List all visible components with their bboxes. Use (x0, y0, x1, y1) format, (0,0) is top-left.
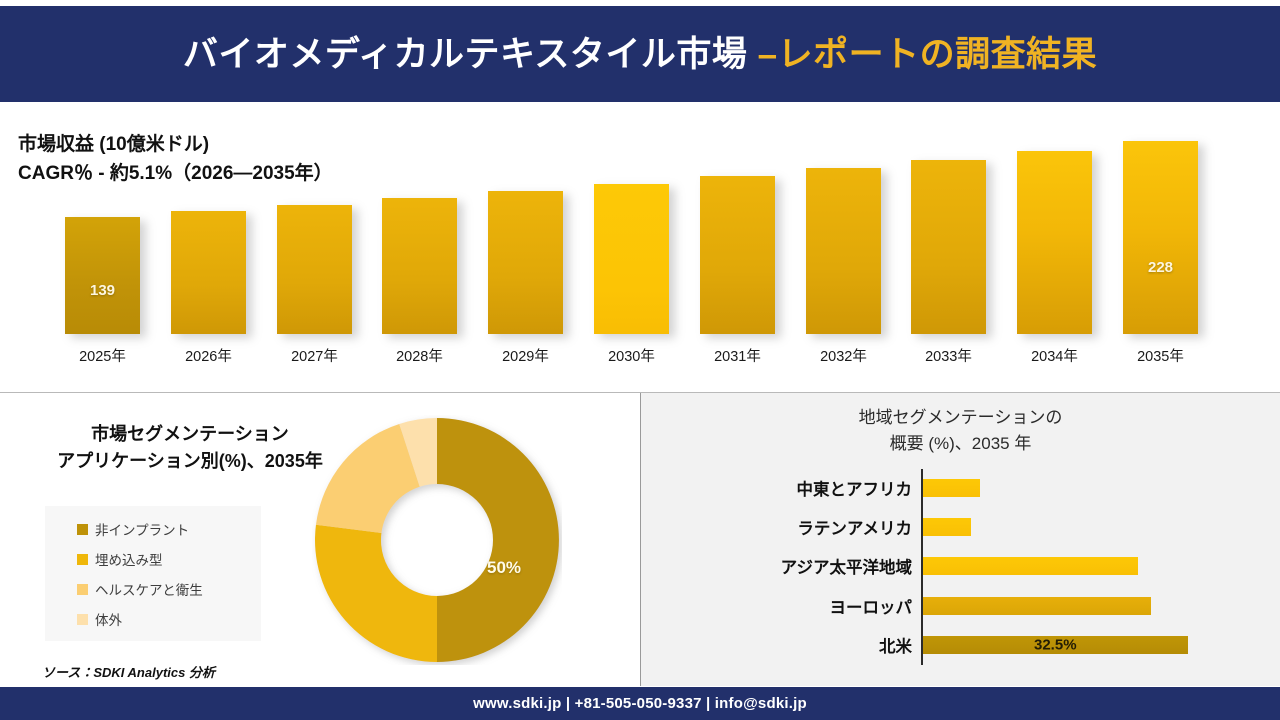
revenue-column-plot: 1392025年2026年2027年2028年2029年2030年2031年20… (0, 102, 1280, 390)
region-bar-row: 北米32.5% (641, 626, 1280, 664)
donut-legend-item[interactable]: 体外 (45, 604, 261, 634)
column-bar (806, 168, 881, 334)
region-bar-row: ラテンアメリカ (641, 508, 1280, 546)
region-bar-track (923, 597, 1151, 615)
column-axis-label: 2028年 (382, 345, 457, 366)
legend-swatch-icon (77, 614, 88, 625)
page-title: バイオメディカルテキスタイル市場 –レポートの調査結果 (183, 37, 1097, 72)
column-bar-group (1123, 141, 1198, 334)
column-axis-label: 2030年 (594, 345, 669, 366)
column-bar-group (171, 211, 246, 334)
column-bar-group (65, 217, 140, 334)
region-bar-fill[interactable] (923, 557, 1138, 575)
column-bar (1123, 141, 1198, 334)
column-axis-label: 2029年 (488, 345, 563, 366)
regional-segmentation-panel: 地域セグメンテーションの 概要 (%)、2035 年 中東とアフリカラテンアメリ… (641, 393, 1280, 686)
donut-legend-label: ヘルスケアと衛生 (95, 579, 203, 599)
donut-chart-title: 市場セグメンテーション アプリケーション別(%)、2035年 (30, 421, 350, 475)
legend-swatch-icon (77, 584, 88, 595)
donut-chart-graphic (312, 415, 562, 665)
column-axis-label: 2032年 (806, 345, 881, 366)
column-axis-label: 2027年 (277, 345, 352, 366)
donut-chart-svg (312, 415, 562, 665)
column-bar (277, 205, 352, 334)
region-bar-track (923, 479, 980, 497)
region-bar-fill[interactable] (923, 479, 980, 497)
donut-title-line2: アプリケーション別(%)、2035年 (57, 451, 323, 471)
footer-contact-text: www.sdki.jp | +81-505-050-9337 | info@sd… (473, 695, 807, 712)
infographic-page: バイオメディカルテキスタイル市場 –レポートの調査結果 市場収益 (10億米ドル… (0, 0, 1280, 720)
column-bar-value-label: 139 (65, 282, 140, 299)
region-bar-fill[interactable] (923, 597, 1151, 615)
column-axis-label: 2026年 (171, 345, 246, 366)
column-bar-group (277, 205, 352, 334)
region-bar-label: ラテンアメリカ (797, 515, 912, 539)
revenue-column-chart: 市場収益 (10億米ドル) CAGR％ - 約5.1%（2026―2035年） … (0, 102, 1280, 390)
donut-legend-item[interactable]: ヘルスケアと衛生 (45, 574, 261, 604)
legend-swatch-icon (77, 554, 88, 565)
column-bar (382, 198, 457, 334)
column-axis-label: 2035年 (1123, 345, 1198, 366)
column-bar (65, 217, 140, 334)
donut-legend-label: 埋め込み型 (95, 549, 163, 569)
region-bar-row: 中東とアフリカ (641, 469, 1280, 507)
column-bar-group (1017, 151, 1092, 334)
segmentation-donut-panel: 市場セグメンテーション アプリケーション別(%)、2035年 非インプラント埋め… (0, 393, 640, 686)
column-bar-value-label: 228 (1123, 259, 1198, 276)
column-bar (1017, 151, 1092, 334)
donut-segment[interactable] (315, 525, 437, 662)
region-bar-label: アジア太平洋地域 (781, 554, 912, 578)
region-bar-track (923, 557, 1138, 575)
column-bar-group (594, 184, 669, 334)
column-bar (488, 191, 563, 334)
donut-legend-item[interactable]: 非インプラント (45, 514, 261, 544)
column-axis-label: 2034年 (1017, 345, 1092, 366)
region-bar-plot: 中東とアフリカラテンアメリカアジア太平洋地域ヨーロッパ北米32.5% (641, 393, 1280, 686)
footer-banner: www.sdki.jp | +81-505-050-9337 | info@sd… (0, 687, 1280, 720)
donut-legend-label: 体外 (95, 609, 122, 629)
region-bar-label: 北米 (879, 633, 912, 657)
column-axis-label: 2033年 (911, 345, 986, 366)
legend-swatch-icon (77, 524, 88, 535)
column-axis-label: 2031年 (700, 345, 775, 366)
region-bar-row: アジア太平洋地域 (641, 547, 1280, 585)
donut-primary-value-label: 50% (487, 558, 521, 578)
column-bar (171, 211, 246, 334)
column-bar-group (911, 160, 986, 334)
column-bar-group (382, 198, 457, 334)
page-title-accent: –レポートの調査結果 (758, 35, 1097, 74)
column-bar-group (700, 176, 775, 334)
page-title-main: バイオメディカルテキスタイル市場 (183, 35, 758, 74)
column-bar-group (488, 191, 563, 334)
region-bar-row: ヨーロッパ (641, 587, 1280, 625)
donut-legend-label: 非インプラント (95, 519, 189, 539)
source-note: ソース：SDKI Analytics 分析 (42, 662, 215, 681)
column-bar (700, 176, 775, 334)
column-bar (594, 184, 669, 334)
region-bar-fill[interactable] (923, 518, 971, 536)
donut-segment[interactable] (437, 418, 559, 662)
column-axis-label: 2025年 (65, 345, 140, 366)
column-bar (911, 160, 986, 334)
region-bar-label: 中東とアフリカ (797, 476, 913, 500)
donut-legend-item[interactable]: 埋め込み型 (45, 544, 261, 574)
column-bar-group (806, 168, 881, 334)
region-bar-value-label: 32.5% (1034, 637, 1077, 654)
donut-segment[interactable] (316, 424, 420, 533)
region-bar-track (923, 518, 971, 536)
donut-title-line1: 市場セグメンテーション (91, 424, 289, 444)
header-banner: バイオメディカルテキスタイル市場 –レポートの調査結果 (0, 6, 1280, 102)
region-bar-label: ヨーロッパ (830, 594, 913, 618)
donut-legend: 非インプラント埋め込み型ヘルスケアと衛生体外 (45, 506, 261, 641)
